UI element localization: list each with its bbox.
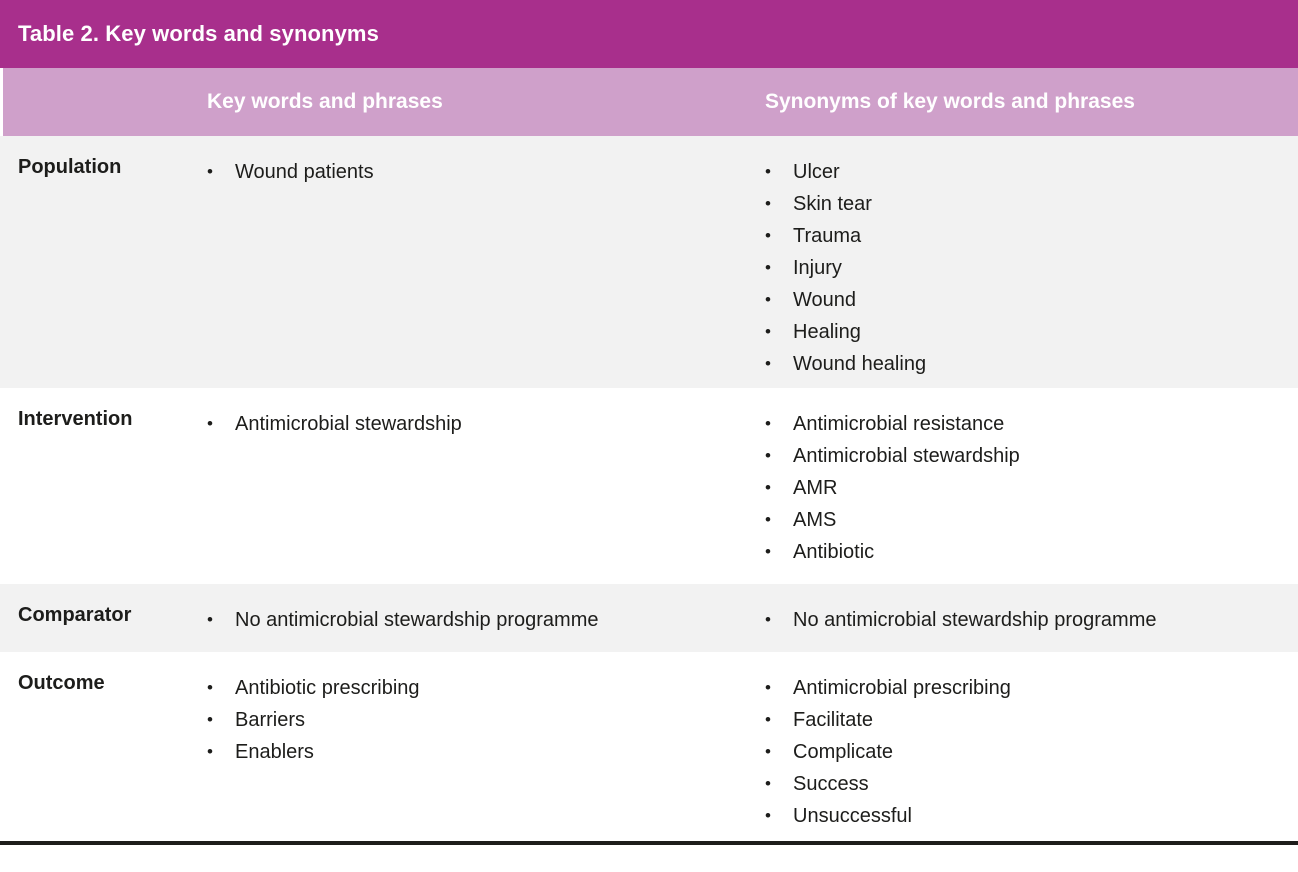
list-item: Antimicrobial stewardship [207,408,753,440]
key-words-list: Antimicrobial stewardship [207,408,753,440]
list-item: AMS [765,504,1298,536]
row-synonyms-cell: Antimicrobial resistance Antimicrobial s… [753,388,1298,584]
list-item: No antimicrobial stewardship programme [765,604,1298,636]
list-item: Antimicrobial stewardship [765,440,1298,472]
key-words-list: Antibiotic prescribing Barriers Enablers [207,672,753,768]
synonyms-list: No antimicrobial stewardship programme [765,604,1298,636]
table-row: Intervention Antimicrobial stewardship A… [0,388,1298,584]
column-header-category [3,68,203,136]
column-header-key-words: Key words and phrases [203,68,753,136]
key-words-list: No antimicrobial stewardship programme [207,604,753,636]
row-label: Population [0,136,200,388]
list-item: Wound patients [207,156,753,188]
row-key-words-cell: Wound patients [200,136,753,388]
row-key-words-cell: No antimicrobial stewardship programme [200,584,753,652]
table-caption: Table 2. Key words and synonyms [0,0,1298,68]
table-row: Outcome Antibiotic prescribing Barriers … [0,652,1298,836]
row-label: Intervention [0,388,200,584]
list-item: Complicate [765,736,1298,768]
list-item: Unsuccessful [765,800,1298,832]
synonyms-list: Antimicrobial resistance Antimicrobial s… [765,408,1298,568]
list-item: Wound [765,284,1298,316]
table-header-row: Key words and phrases Synonyms of key wo… [0,68,1298,136]
synonyms-list: Ulcer Skin tear Trauma Injury Wound Heal… [765,156,1298,380]
list-item: Success [765,768,1298,800]
synonyms-list: Antimicrobial prescribing Facilitate Com… [765,672,1298,832]
list-item: Enablers [207,736,753,768]
row-label: Comparator [0,584,200,652]
table-row: Population Wound patients Ulcer Skin tea… [0,136,1298,388]
list-item: Wound healing [765,348,1298,380]
row-label: Outcome [0,652,200,836]
column-header-synonyms: Synonyms of key words and phrases [753,68,1298,136]
list-item: Antibiotic prescribing [207,672,753,704]
row-key-words-cell: Antimicrobial stewardship [200,388,753,584]
list-item: Antimicrobial resistance [765,408,1298,440]
key-words-synonyms-table: Table 2. Key words and synonyms Key word… [0,0,1298,845]
key-words-list: Wound patients [207,156,753,188]
table-row: Comparator No antimicrobial stewardship … [0,584,1298,652]
list-item: Healing [765,316,1298,348]
list-item: Barriers [207,704,753,736]
list-item: Antimicrobial prescribing [765,672,1298,704]
list-item: Antibiotic [765,536,1298,568]
row-synonyms-cell: Antimicrobial prescribing Facilitate Com… [753,652,1298,836]
row-key-words-cell: Antibiotic prescribing Barriers Enablers [200,652,753,836]
list-item: Facilitate [765,704,1298,736]
list-item: Skin tear [765,188,1298,220]
list-item: Ulcer [765,156,1298,188]
row-synonyms-cell: Ulcer Skin tear Trauma Injury Wound Heal… [753,136,1298,388]
list-item: AMR [765,472,1298,504]
list-item: No antimicrobial stewardship programme [207,604,753,636]
list-item: Injury [765,252,1298,284]
list-item: Trauma [765,220,1298,252]
table-bottom-rule [0,841,1298,845]
row-synonyms-cell: No antimicrobial stewardship programme [753,584,1298,652]
